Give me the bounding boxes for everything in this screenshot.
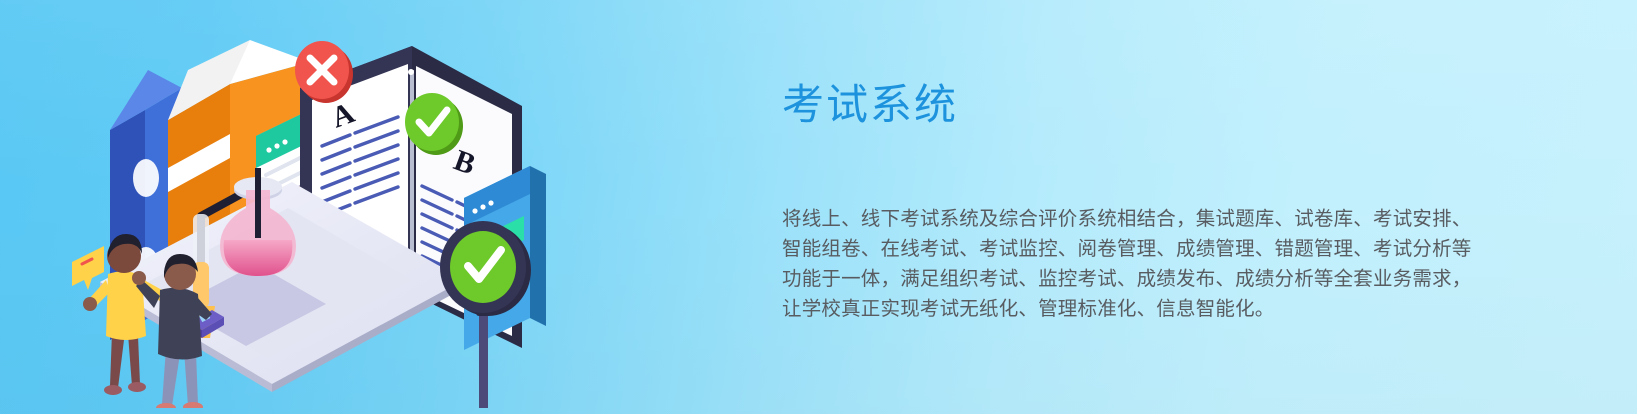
exam-system-illustration: A B <box>60 18 680 408</box>
hero-text-block: 考试系统 将线上、线下考试系统及综合评价系统相结合，集试题库、试卷库、考试安排、… <box>782 82 1502 324</box>
page-title: 考试系统 <box>782 82 1502 128</box>
page-description: 将线上、线下考试系统及综合评价系统相结合，集试题库、试卷库、考试安排、 智能组卷… <box>782 128 1482 324</box>
yellow-chat-bubble <box>72 246 104 290</box>
hero-banner: A B <box>0 0 1637 414</box>
